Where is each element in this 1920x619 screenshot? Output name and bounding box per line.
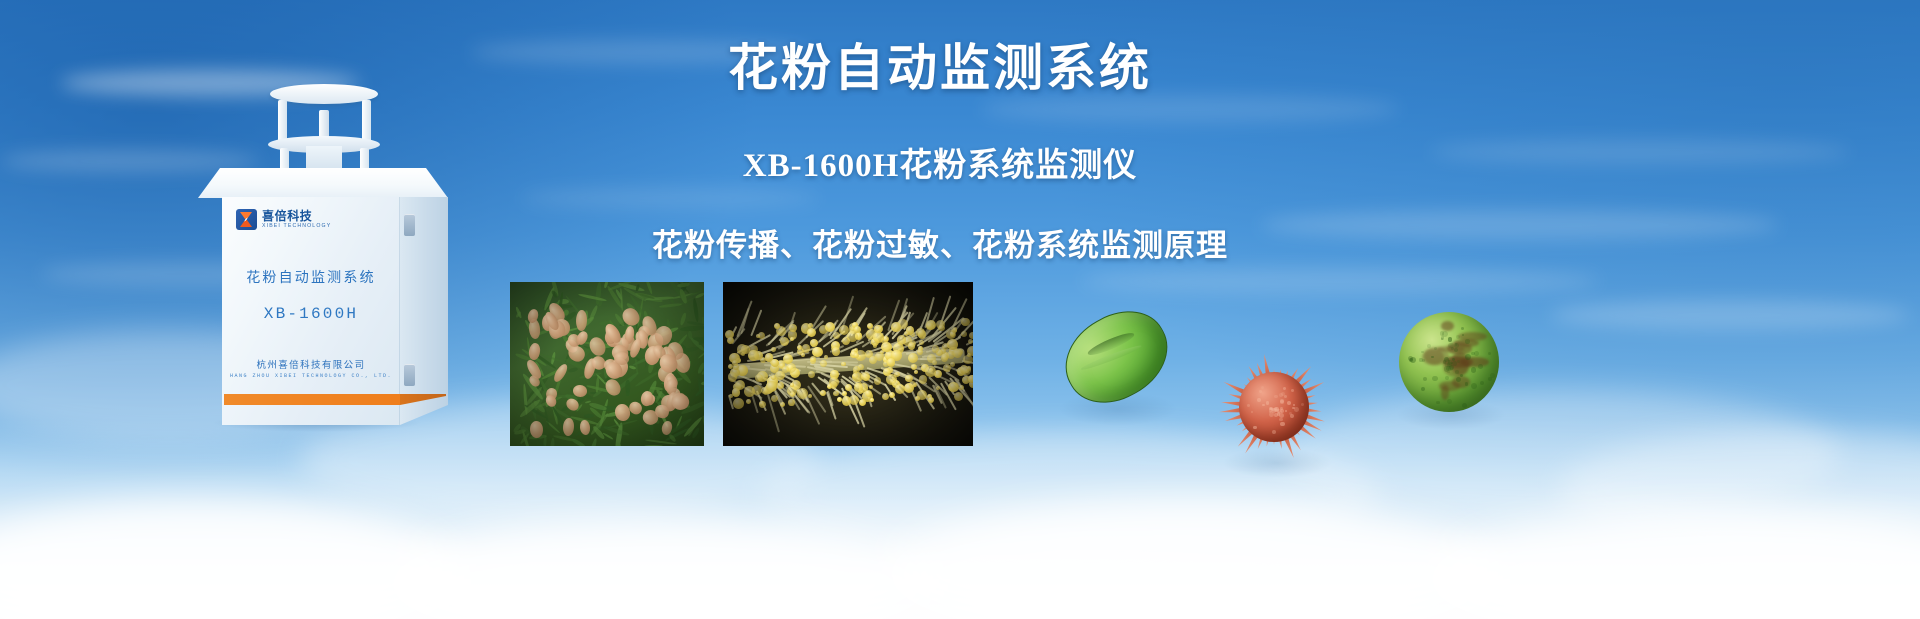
instrument-label-area: 喜倍科技 XIBEI TECHNOLOGY 花粉自动监测系统 XB-1600H … xyxy=(222,197,400,425)
company-name-en: HANG ZHOU XIBEI TECHNOLOGY CO., LTD. xyxy=(222,373,400,379)
pollen-pore xyxy=(1452,361,1456,365)
pollen-surface-dot xyxy=(1269,412,1274,417)
cedar-photo-vignette xyxy=(510,282,704,446)
pollen-pore xyxy=(1421,387,1425,391)
page-tagline: 花粉传播、花粉过敏、花粉系统监测原理 xyxy=(600,220,1280,265)
pollen-surface-dot xyxy=(1257,398,1261,402)
pollen-pore xyxy=(1465,354,1471,360)
pollen-surface-dot xyxy=(1262,404,1265,407)
pollen-surface-dot xyxy=(1280,422,1285,427)
pollen-monitoring-banner: 喜倍科技 XIBEI TECHNOLOGY 花粉自动监测系统 XB-1600H … xyxy=(0,0,1920,619)
pollen-pore xyxy=(1448,360,1450,362)
photo-catkin-pollen xyxy=(723,282,973,446)
pollen-pore xyxy=(1478,364,1483,369)
pollen-surface-dot xyxy=(1272,430,1276,434)
pollen-surface-dot xyxy=(1294,407,1299,412)
pollen-pore xyxy=(1462,403,1467,408)
pollen-pore xyxy=(1480,381,1484,385)
pollen-pore xyxy=(1445,376,1449,380)
pollen-blotch xyxy=(1441,321,1454,331)
pollen-blotch xyxy=(1441,385,1450,400)
pollen-pore xyxy=(1432,376,1438,382)
pollen-pore xyxy=(1461,327,1465,331)
spiky-pollen-grain xyxy=(1222,355,1326,459)
pollen-pore xyxy=(1471,367,1477,373)
pollen-pore xyxy=(1460,374,1463,377)
instrument-top-panel xyxy=(198,168,448,198)
pollen-surface-dot xyxy=(1293,404,1295,406)
brand-name-cn: 喜倍科技 xyxy=(262,210,331,222)
pollen-pore xyxy=(1474,351,1479,356)
catkin-photo-vignette xyxy=(723,282,973,446)
pollen-pore xyxy=(1423,377,1427,381)
instrument-name-label: 花粉自动监测系统 xyxy=(222,267,400,287)
pollen-pore xyxy=(1488,377,1492,381)
pollen-pore xyxy=(1454,343,1459,348)
accent-stripe xyxy=(224,394,400,405)
headline-block: 花粉自动监测系统 XB-1600H花粉系统监测仪 花粉传播、花粉过敏、花粉系统监… xyxy=(600,24,1280,265)
pollen-surface-dot xyxy=(1274,413,1278,417)
pollen-pore xyxy=(1421,351,1424,354)
pollen-pore xyxy=(1457,360,1460,363)
pollen-surface-dot xyxy=(1280,399,1284,403)
pollen-pore xyxy=(1471,383,1477,389)
pollen-pore xyxy=(1455,370,1459,374)
door-latch-lower xyxy=(404,364,415,386)
company-name-cn: 杭州喜倍科技有限公司 xyxy=(222,357,400,371)
photo-cedar-pollen-cones xyxy=(510,282,704,446)
brand-logo: 喜倍科技 XIBEI TECHNOLOGY xyxy=(236,209,331,230)
brand-logo-text: 喜倍科技 XIBEI TECHNOLOGY xyxy=(262,210,331,230)
pollen-pore xyxy=(1436,401,1440,405)
page-title: 花粉自动监测系统 xyxy=(600,40,1280,98)
brand-name-en: XIBEI TECHNOLOGY xyxy=(262,224,331,229)
spherical-pollen-grain xyxy=(1399,312,1499,412)
pollen-pore xyxy=(1447,399,1453,405)
door-latch-upper xyxy=(404,214,415,236)
instrument-illustration: 喜倍科技 XIBEI TECHNOLOGY 花粉自动监测系统 XB-1600H … xyxy=(198,84,448,424)
pollen-pore xyxy=(1431,356,1433,358)
pollen-pore xyxy=(1427,344,1431,348)
page-subtitle: XB-1600H花粉系统监测仪 xyxy=(600,138,1280,186)
pollen-pore xyxy=(1448,337,1453,342)
pollen-surface-dot xyxy=(1280,409,1284,413)
pollen-pore xyxy=(1488,352,1491,355)
pollen-pore xyxy=(1419,358,1422,361)
pollen-pore xyxy=(1442,331,1448,337)
pollen-pore xyxy=(1441,338,1443,340)
pollen-surface-dot xyxy=(1279,418,1282,421)
instrument-model-label: XB-1600H xyxy=(222,305,400,323)
pollen-surface-dot xyxy=(1274,395,1278,399)
pollen-surface-dot xyxy=(1251,411,1253,413)
pollen-surface-dot xyxy=(1279,393,1283,397)
pollen-pore xyxy=(1465,339,1470,344)
xibei-logo-icon xyxy=(236,209,257,230)
pollen-surface-dot xyxy=(1301,403,1304,406)
pollen-surface-dot xyxy=(1272,408,1275,411)
